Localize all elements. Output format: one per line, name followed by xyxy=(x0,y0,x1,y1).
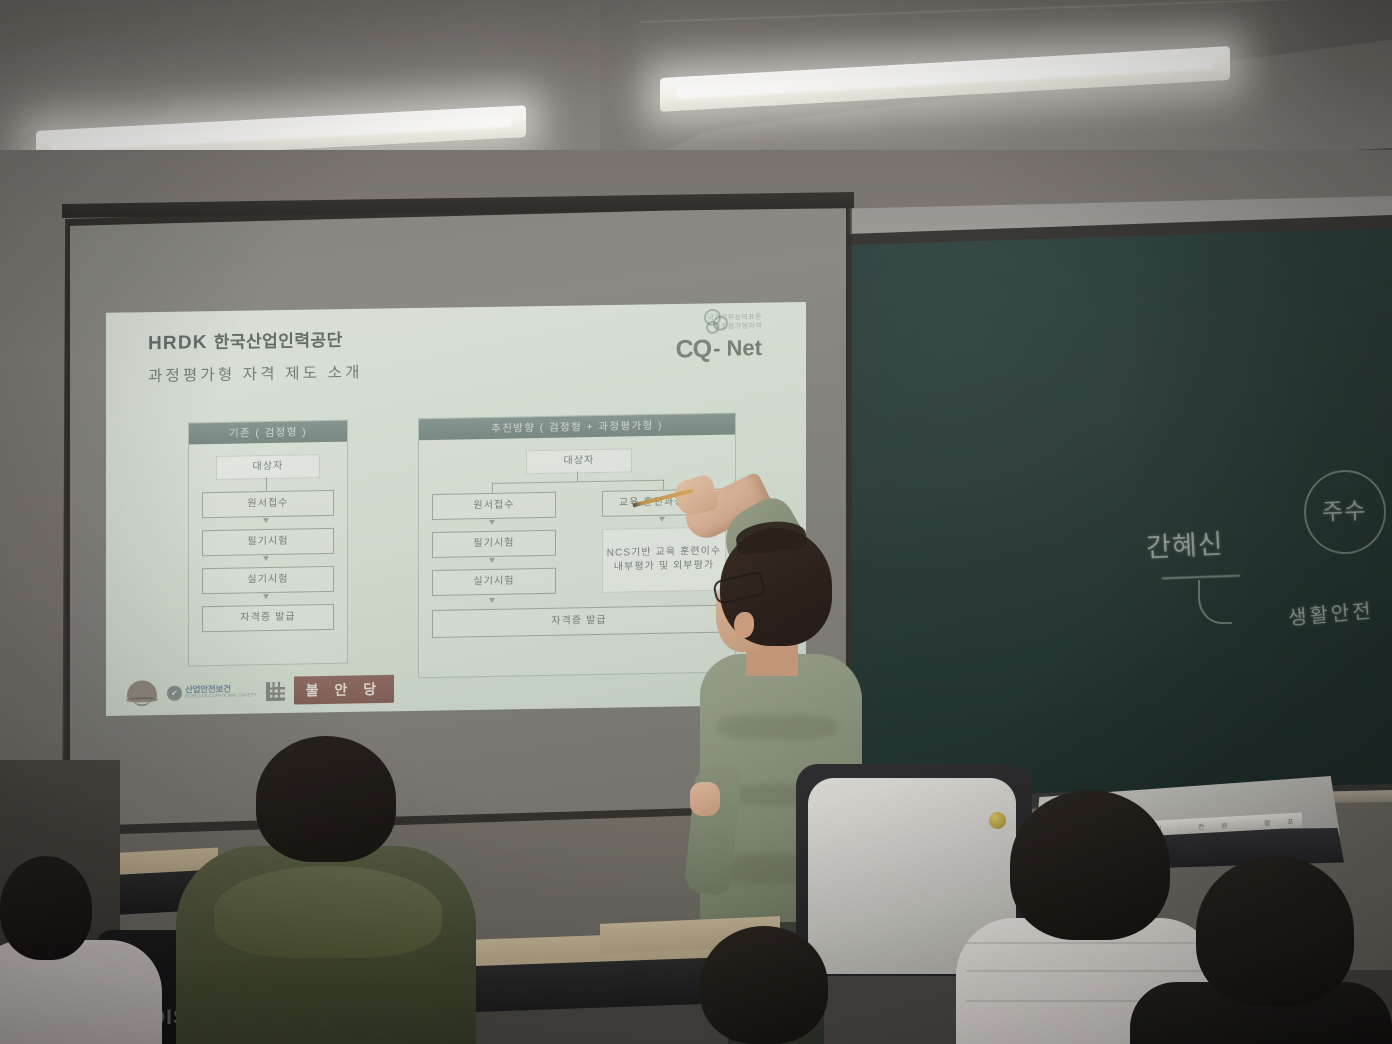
arrow-down-icon xyxy=(263,556,269,561)
arrow-down-icon xyxy=(489,558,495,563)
organization-name: 한국산업인력공단 xyxy=(214,326,343,353)
slide-header: HRDK 한국산업인력공단 과정평가형 자격 제도 소개 xyxy=(148,325,363,386)
right-panel-header: 추진방향 ( 검정형 + 과정평가형 ) xyxy=(419,413,735,440)
hrdk-logo: HRDK xyxy=(148,332,208,355)
seal-icon: ✔ xyxy=(167,685,182,700)
student-2-head xyxy=(0,856,92,960)
classroom-photo: 간혜신 생활안전 주수 HRDK 한국산업인력공단 과정평가형 자격 제도 소개 xyxy=(0,0,1392,1044)
arrow-down-icon xyxy=(263,594,269,599)
badge-subtitle: KOREA OCCUPATIONAL SAFETY xyxy=(185,693,257,699)
student-1-hood xyxy=(214,866,442,958)
connector xyxy=(577,471,578,481)
left-node-2: 필기시험 xyxy=(202,528,334,556)
student-5-head xyxy=(1196,856,1354,1006)
arrow-down-icon xyxy=(263,518,269,523)
chalk-circle xyxy=(1304,470,1386,554)
right-root-node: 대상자 xyxy=(526,448,632,474)
right-footer-node: 자격증 발급 xyxy=(432,605,726,638)
connector xyxy=(266,477,267,491)
student-1-head xyxy=(256,736,396,862)
desk-front-panel xyxy=(440,957,740,1013)
arrow-down-icon xyxy=(489,598,495,603)
slide-subtitle: 과정평가형 자격 제도 소개 xyxy=(148,360,363,386)
connector xyxy=(663,480,664,490)
safety-helmet-icon xyxy=(126,680,158,707)
left-node-0: 대상자 xyxy=(216,454,320,480)
slide-banner: 불 안 당 xyxy=(294,675,394,705)
left-node-3: 실기시험 xyxy=(202,566,334,594)
certification-badge: ✔ 산업안전보건 KOREA OCCUPATIONAL SAFETY xyxy=(167,684,257,701)
cqnet-wordmark: CQ xyxy=(676,334,712,364)
left-node-4: 자격증 발급 xyxy=(202,604,334,632)
qr-code-icon xyxy=(266,681,285,700)
right-branch-left-1: 필기시험 xyxy=(432,530,556,558)
arrow-down-icon xyxy=(659,517,665,522)
cqnet-tagline-2: 과정평가형자격 xyxy=(676,323,762,333)
lectern-emblem-icon xyxy=(989,812,1006,829)
left-node-1: 원서접수 xyxy=(202,490,334,518)
connector xyxy=(492,483,493,493)
cqnet-suffix: - Net xyxy=(713,335,762,362)
cqnet-logo: 국가직무능력표준 과정평가형자격 CQ - Net xyxy=(676,314,762,364)
presenter-ear xyxy=(734,612,754,638)
arrow-down-icon xyxy=(489,520,495,525)
student-3-head xyxy=(700,926,828,1044)
right-branch-left-2: 실기시험 xyxy=(432,568,556,596)
slide-footer-logos: ✔ 산업안전보건 KOREA OCCUPATIONAL SAFETY 불 안 당 xyxy=(126,675,394,708)
left-panel-header: 기존 ( 검정형 ) xyxy=(189,421,347,445)
banner-text: 불 안 당 xyxy=(306,681,382,698)
presenter-lower-hand xyxy=(690,782,720,816)
student-4-head xyxy=(1010,790,1170,940)
right-branch-left-0: 원서접수 xyxy=(432,492,556,520)
